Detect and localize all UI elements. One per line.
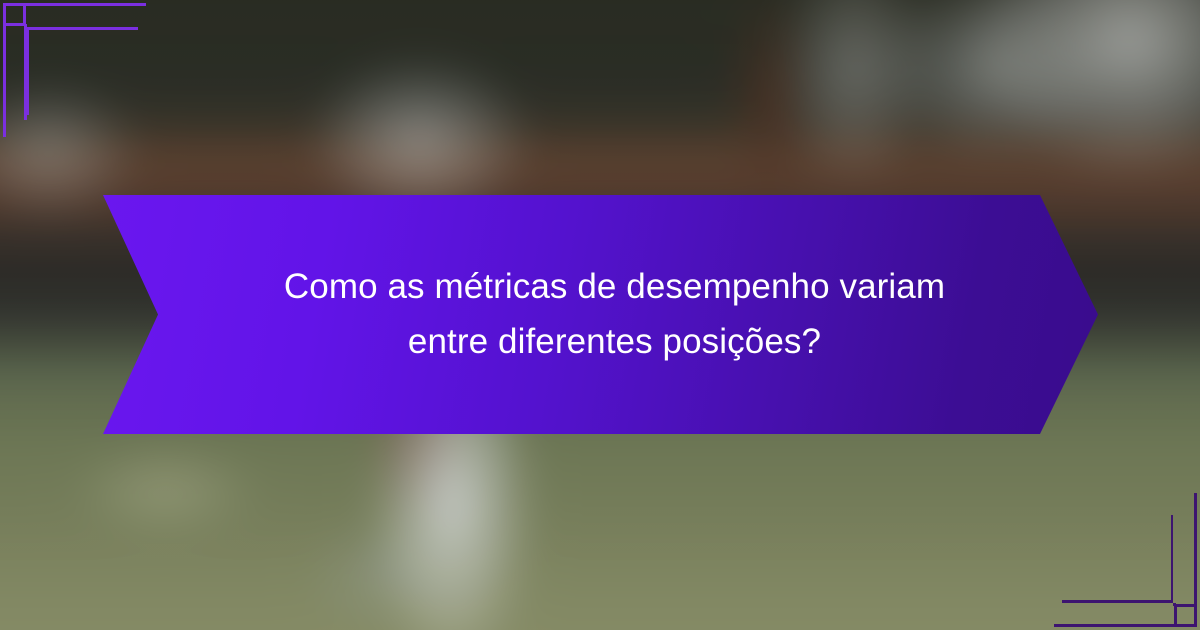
question-text: Como as métricas de desempenho variam en… [284,260,945,369]
question-card: Como as métricas de desempenho variam en… [0,0,1200,630]
question-line-1: Como as métricas de desempenho variam [284,267,945,306]
question-banner: Como as métricas de desempenho variam en… [103,195,1098,434]
question-line-2: entre diferentes posições? [408,322,821,361]
